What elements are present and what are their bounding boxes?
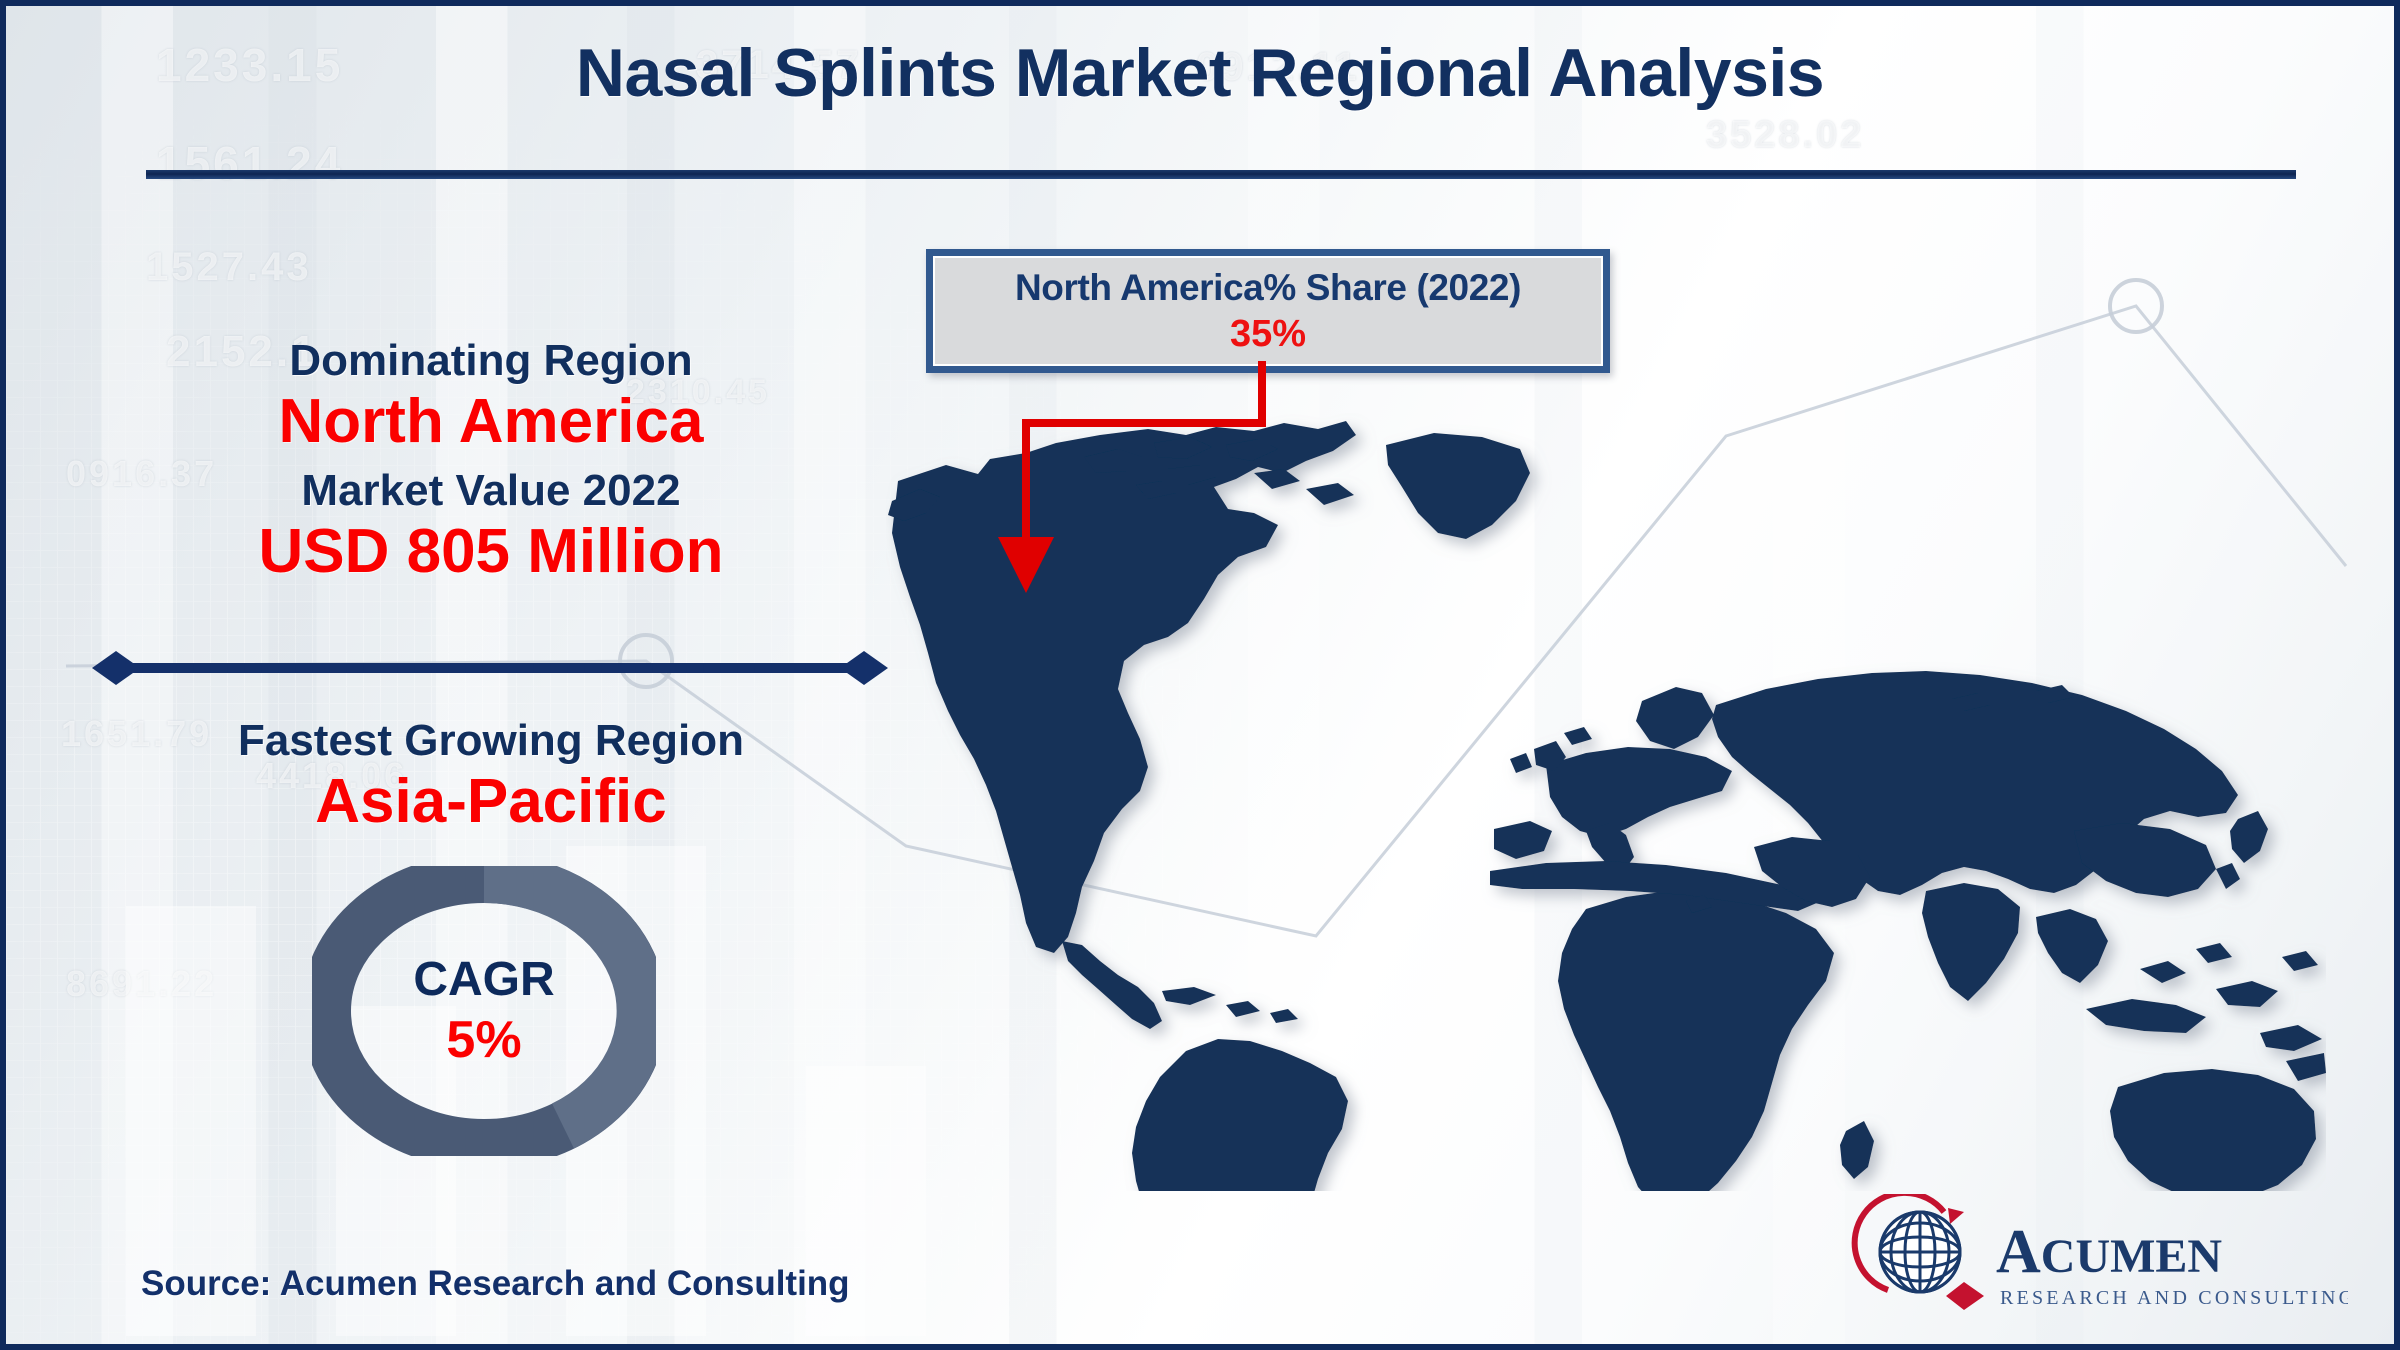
background-number: 1527.43 (146, 236, 312, 298)
background-number: 3528.02 (1706, 106, 1864, 165)
world-map (886, 361, 2326, 1191)
fastest-growing-value: Asia-Pacific (96, 767, 886, 838)
dominating-region-value: North America (96, 387, 886, 458)
logo-wordmark: ACUMEN (1996, 1218, 2222, 1286)
logo-tagline: RESEARCH AND CONSULTING (2000, 1287, 2348, 1309)
fastest-growing-block: Fastest Growing Region Asia-Pacific (96, 716, 886, 838)
background-number: 8691.22 (66, 956, 217, 1012)
section-divider (90, 651, 890, 685)
page-title: Nasal Splints Market Regional Analysis (6, 34, 2394, 112)
north-america-share-callout: North America% Share (2022) 35% (926, 249, 1610, 373)
source-note: Source: Acumen Research and Consulting (141, 1264, 850, 1304)
dominating-region-block: Dominating Region North America Market V… (96, 336, 886, 588)
market-value-value: USD 805 Million (96, 517, 886, 588)
callout-value: 35% (1230, 315, 1306, 353)
infographic-canvas: 1233.151561.241527.432152.13714.570912.1… (0, 0, 2400, 1350)
logo-globe-icon (1880, 1212, 1960, 1292)
cagr-donut-chart: CAGR 5% (312, 866, 656, 1156)
logo-arc-arrowhead (1948, 1208, 1964, 1224)
dominating-region-label: Dominating Region (96, 336, 886, 385)
acumen-logo[interactable]: ACUMEN RESEARCH AND CONSULTING (1848, 1194, 2348, 1326)
logo-red-diamond (1946, 1282, 1984, 1310)
title-underline (146, 170, 2296, 179)
map-landmasses (888, 421, 2326, 1191)
background-number: 1561.24 (156, 128, 343, 199)
market-value-label: Market Value 2022 (96, 466, 886, 515)
fastest-growing-label: Fastest Growing Region (96, 716, 886, 765)
callout-label: North America% Share (2022) (1015, 269, 1521, 306)
donut-ring-graphic (312, 866, 656, 1156)
